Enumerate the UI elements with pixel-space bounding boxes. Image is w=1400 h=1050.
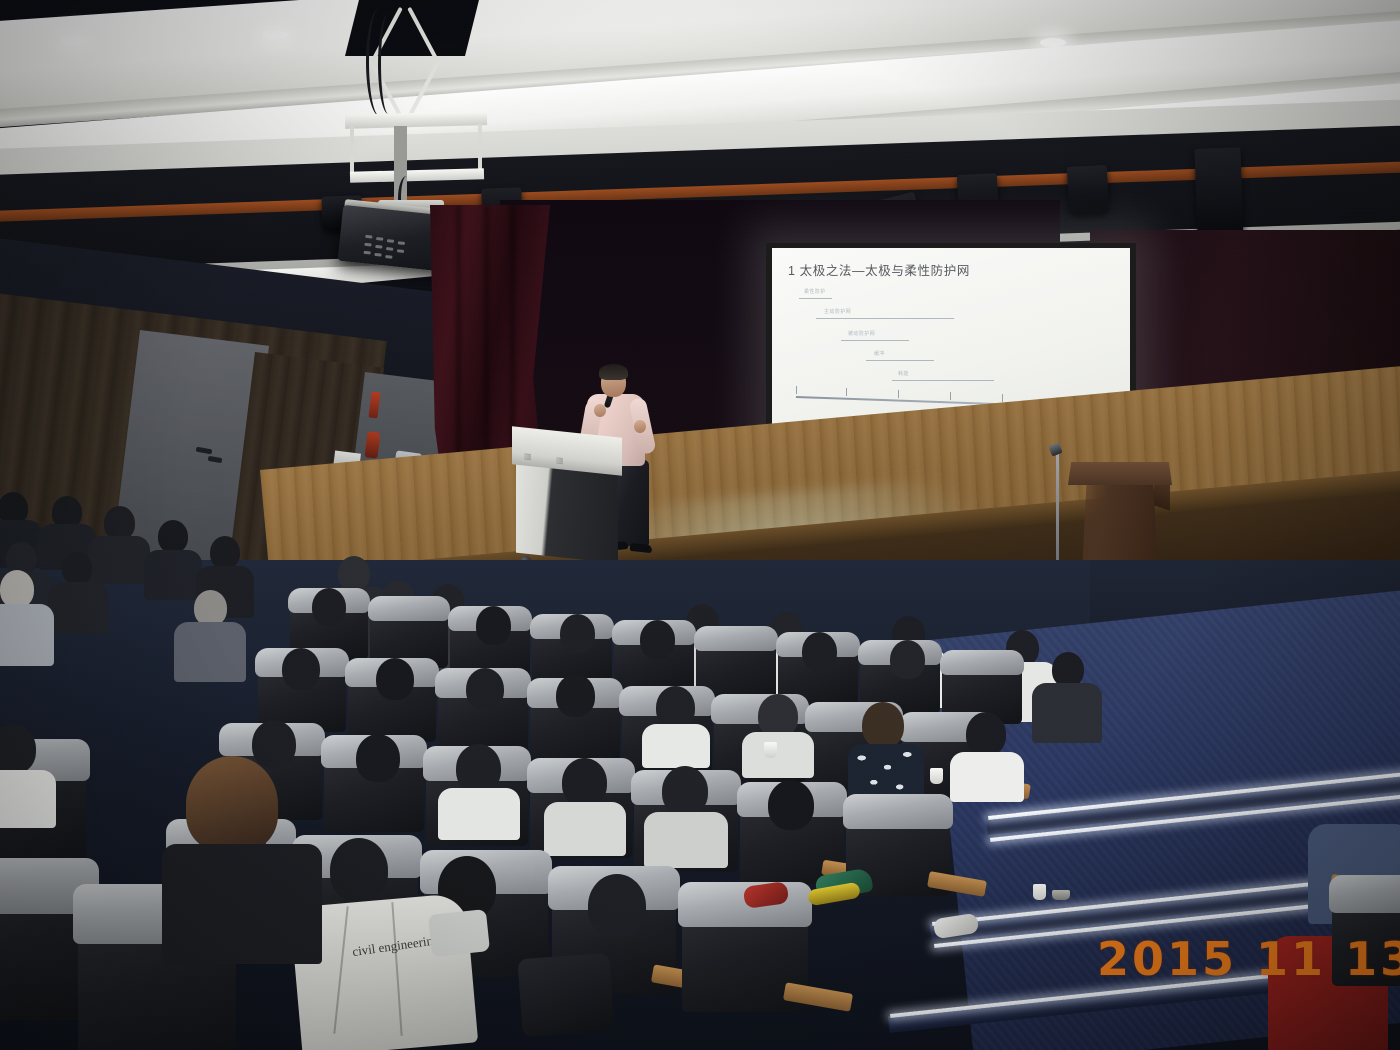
paper-cup [764, 742, 777, 758]
slide-title: 1 太极之法—太极与柔性防护网 [788, 260, 970, 279]
stage-light [1067, 165, 1109, 215]
auditorium-photo: 1 太极之法—太极与柔性防护网 柔性防护 主动防护网 被动防护网 缓冲 耗能 时… [0, 0, 1400, 1050]
ceiling-downlight [60, 36, 86, 45]
lectern-top[interactable] [1068, 462, 1172, 485]
chart-bar [816, 318, 954, 319]
projector-mount-leg [350, 126, 354, 174]
av-podium-cart-body[interactable] [516, 461, 618, 564]
paper-cup [1033, 884, 1046, 900]
cart-label: ▥ [556, 456, 565, 466]
chart-label: 被动防护网 [848, 330, 875, 337]
ceiling-downlight [262, 30, 288, 39]
chart-label: 耗能 [898, 370, 909, 377]
camera-date-stamp: 2015 11 13 [1097, 932, 1400, 986]
projector-mount-leg [478, 124, 482, 174]
chart-bar [841, 340, 909, 341]
discarded-item [1052, 890, 1070, 900]
presenter-hand [634, 420, 646, 433]
auditorium-seat[interactable] [682, 900, 808, 1012]
chart-label: 柔性防护 [804, 288, 826, 295]
chart-bar [892, 380, 994, 381]
chart-bar [799, 298, 832, 299]
chart-label: 主动防护网 [824, 308, 851, 315]
cart-label: ▥ [524, 452, 533, 462]
paper-cup [930, 768, 943, 784]
presenter-hair [599, 364, 628, 380]
ceiling-downlight [1040, 38, 1066, 47]
chart-bar [866, 360, 934, 361]
chart-label: 缓冲 [874, 350, 885, 357]
held-paper [428, 909, 490, 957]
backpack [517, 953, 614, 1037]
projector-cable [378, 14, 399, 114]
stage-light [1194, 147, 1243, 241]
